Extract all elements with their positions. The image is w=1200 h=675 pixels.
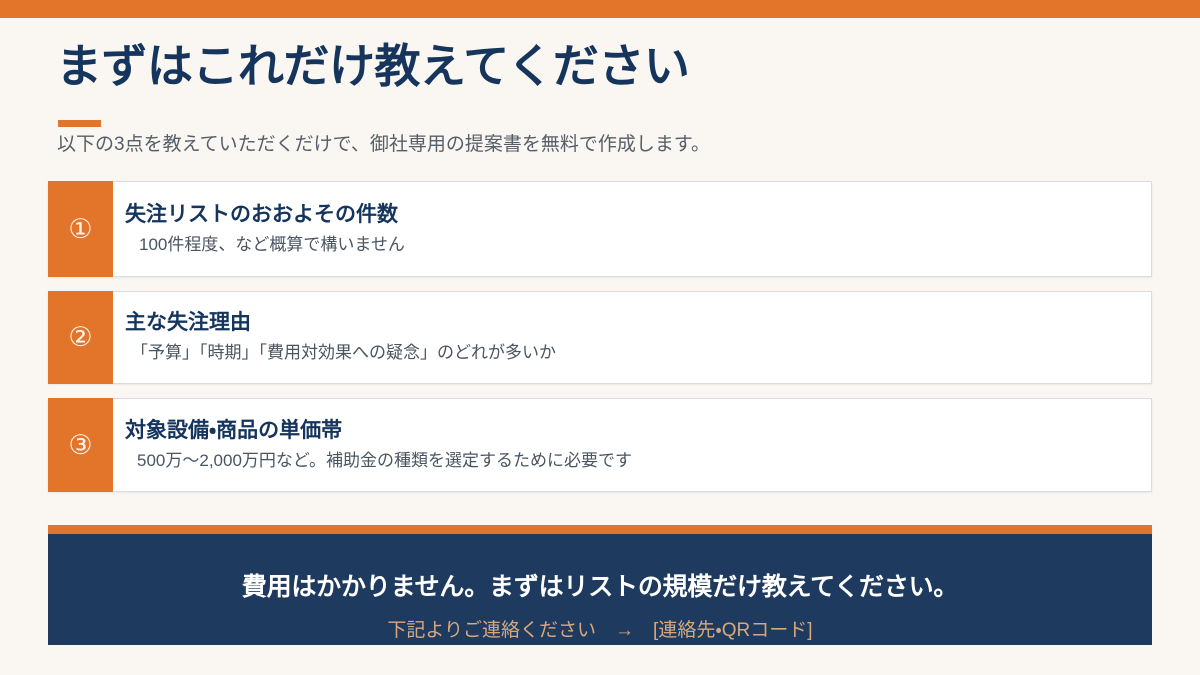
requirement-card-list: ① 失注リストのおおよその件数 100件程度、など概算で構いません ② 主な失注… (48, 181, 1152, 492)
footer-accent-stripe (48, 525, 1152, 534)
list-item: ② 主な失注理由 「予算」「時期」「費用対効果への疑念」のどれが多いか (48, 291, 1152, 384)
card-content: 主な失注理由 「予算」「時期」「費用対効果への疑念」のどれが多いか (113, 292, 1151, 383)
list-item: ① 失注リストのおおよその件数 100件程度、など概算で構いません (48, 181, 1152, 277)
card-heading: 対象設備・商品の単価帯 (125, 417, 1151, 445)
card-heading: 主な失注理由 (125, 309, 1151, 337)
card-heading: 失注リストのおおよその件数 (125, 201, 1151, 229)
page-subtitle: 以下の3点を教えていただくだけで、御社専用の提案書を無料で作成します。 (57, 131, 710, 159)
call-to-action-banner: 費用はかかりません。まずはリストの規模だけ教えてください。 下記よりご連絡くださ… (48, 525, 1152, 645)
slide-root: まずはこれだけ教えてください 以下の3点を教えていただくだけで、御社専用の提案書… (0, 0, 1200, 675)
list-item: ③ 対象設備・商品の単価帯 500万〜2,000万円など。補助金の種類を選定する… (48, 398, 1152, 492)
card-content: 失注リストのおおよその件数 100件程度、など概算で構いません (113, 182, 1151, 276)
card-description: 100件程度、など概算で構いません (125, 232, 1151, 258)
page-title: まずはこれだけ教えてください (56, 38, 689, 94)
card-number-badge: ③ (48, 398, 113, 492)
title-accent-rule (58, 120, 101, 127)
top-accent-bar (0, 0, 1200, 18)
card-number-badge: ② (48, 291, 113, 384)
card-description: 500万〜2,000万円など。補助金の種類を選定するために必要です (125, 448, 1151, 474)
card-content: 対象設備・商品の単価帯 500万〜2,000万円など。補助金の種類を選定するため… (113, 399, 1151, 491)
footer-contact-line: 下記よりご連絡ください → [連絡先・QRコード] (48, 619, 1152, 643)
card-number-badge: ① (48, 181, 113, 277)
card-description: 「予算」「時期」「費用対効果への疑念」のどれが多いか (125, 340, 1151, 366)
footer-headline: 費用はかかりません。まずはリストの規模だけ教えてください。 (48, 572, 1152, 602)
